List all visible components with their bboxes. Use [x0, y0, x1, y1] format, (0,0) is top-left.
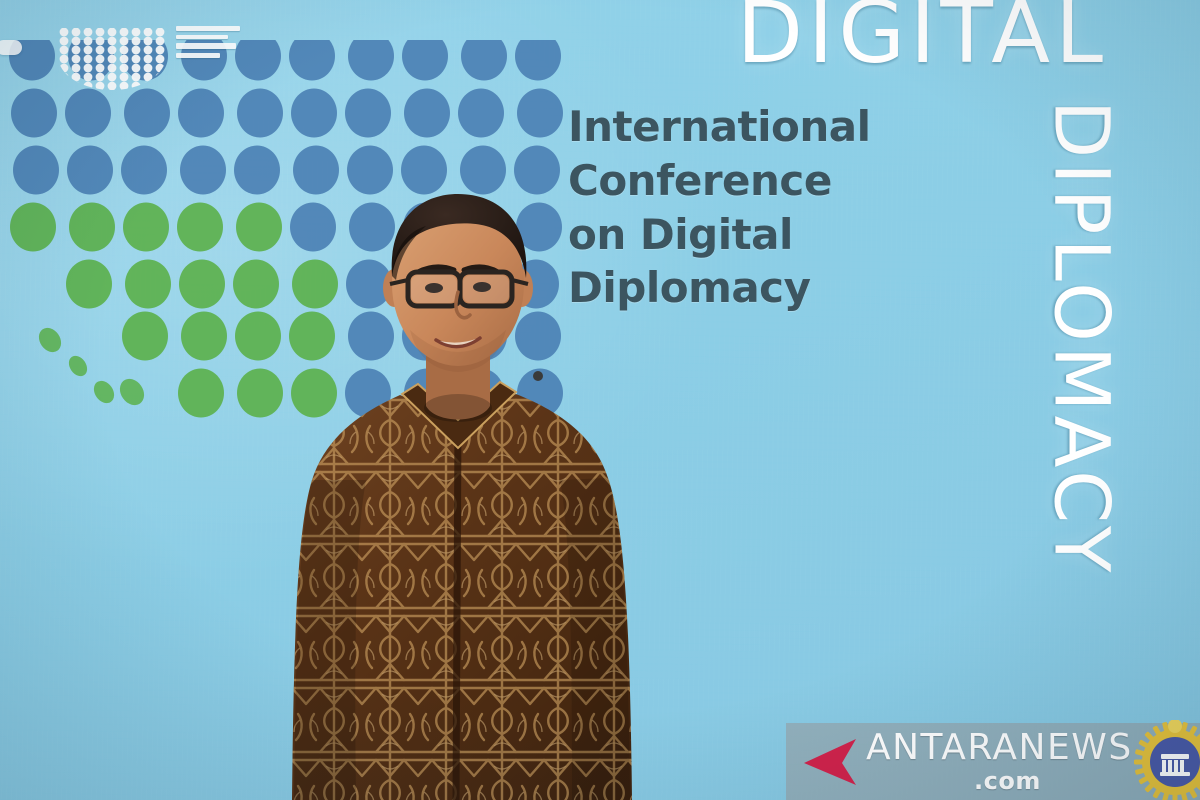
map-dot-blue: [348, 40, 394, 81]
globe-dot: [84, 64, 93, 73]
globe-dot: [72, 28, 81, 37]
globe-dot: [84, 55, 93, 64]
map-dot-green: [181, 312, 227, 361]
ministry-gear-emblem-icon: [1133, 720, 1200, 800]
map-dot-green: [125, 260, 171, 309]
globe-dot: [156, 64, 165, 73]
globe-dot: [96, 64, 105, 73]
globe-dot: [132, 82, 141, 91]
map-dot-green: [177, 203, 223, 252]
map-dot-blue: [458, 89, 504, 138]
conference-speaker: [250, 180, 670, 800]
globe-dot: [96, 37, 105, 46]
antara-arrow-icon: [798, 735, 860, 789]
antaranews-watermark: ANTARANEWS .com: [786, 723, 1200, 800]
map-dot-blue: [180, 146, 226, 195]
map-dot-green: [179, 260, 225, 309]
globe-dot: [144, 55, 153, 64]
globe-dot: [72, 55, 81, 64]
map-dot-blue: [291, 89, 337, 138]
lapel-microphone: [533, 371, 543, 381]
globe-dot: [132, 28, 141, 37]
map-dot-blue: [289, 40, 335, 81]
map-dot-green: [65, 352, 91, 379]
antaranews-domain: .com: [974, 769, 1041, 793]
map-dot-blue: [517, 89, 563, 138]
globe-dot: [108, 28, 117, 37]
globe-dot: [144, 73, 153, 82]
globe-dot: [144, 37, 153, 46]
screenshot-root: DIGITAL DIPLOMACY International Conferen…: [0, 0, 1200, 800]
headline-digital: DIGITAL: [737, 0, 1108, 76]
globe-dot: [108, 82, 117, 91]
globe-dot: [96, 55, 105, 64]
globe-dot: [96, 28, 105, 37]
globe-dot: [84, 46, 93, 55]
globe-dot: [108, 55, 117, 64]
globe-dot: [132, 64, 141, 73]
globe-dot: [120, 73, 129, 82]
globe-dot: [96, 82, 105, 91]
globe-dot: [60, 82, 69, 91]
map-dot-blue: [67, 146, 113, 195]
map-dot-green: [34, 324, 65, 357]
batik-shirt: [292, 382, 632, 800]
map-dot-green: [123, 203, 169, 252]
globe-dot: [72, 37, 81, 46]
globe-dot: [108, 64, 117, 73]
globe-dot: [156, 28, 165, 37]
map-dot-green: [66, 260, 112, 309]
globe-dot: [60, 55, 69, 64]
globe-dot: [108, 37, 117, 46]
map-dot-green: [69, 203, 115, 252]
globe-dot: [120, 46, 129, 55]
globe-dot: [84, 28, 93, 37]
logo-fragment-left-edge: [0, 40, 22, 55]
globe-dot: [60, 46, 69, 55]
map-dot-green: [178, 369, 224, 418]
globe-dot: [84, 82, 93, 91]
map-dot-blue: [402, 40, 448, 81]
shirt-placket: [456, 424, 458, 800]
globe-dot: [120, 37, 129, 46]
antaranews-text: ANTARANEWS .com: [866, 730, 1133, 793]
globe-dot: [156, 55, 165, 64]
globe-dot: [132, 46, 141, 55]
globe-dot: [84, 37, 93, 46]
title-line-1: International: [568, 100, 871, 154]
globe-dot: [144, 64, 153, 73]
globe-dot: [156, 37, 165, 46]
globe-dot: [156, 46, 165, 55]
globe-dot: [144, 82, 153, 91]
headline-diplomacy-vertical: DIPLOMACY: [1044, 100, 1120, 577]
globe-dot: [120, 28, 129, 37]
organizer-wordmark: [176, 26, 240, 62]
globe-dot: [72, 46, 81, 55]
map-dot-blue: [121, 146, 167, 195]
map-dot-blue: [345, 89, 391, 138]
globe-dot: [96, 73, 105, 82]
map-dot-green: [122, 312, 168, 361]
globe-dot: [60, 64, 69, 73]
antaranews-brand: ANTARANEWS: [866, 730, 1133, 766]
globe-dot: [60, 73, 69, 82]
globe-dot: [72, 64, 81, 73]
map-dot-blue: [237, 89, 283, 138]
map-dot-blue: [13, 146, 59, 195]
globe-dot: [120, 55, 129, 64]
dotted-globe-icon: [52, 22, 172, 94]
globe-dot: [72, 82, 81, 91]
globe-dot: [96, 46, 105, 55]
map-dot-blue: [11, 89, 57, 138]
map-dot-blue: [461, 40, 507, 81]
globe-dot: [60, 28, 69, 37]
map-dot-blue: [178, 89, 224, 138]
globe-dot: [72, 73, 81, 82]
globe-dot: [120, 64, 129, 73]
globe-dot: [144, 28, 153, 37]
globe-dot: [132, 55, 141, 64]
map-dot-green: [90, 377, 119, 407]
map-dot-blue: [404, 89, 450, 138]
map-dot-green: [115, 374, 149, 410]
globe-dot: [108, 73, 117, 82]
map-dot-blue: [235, 40, 281, 81]
globe-dot: [84, 73, 93, 82]
globe-dot: [156, 82, 165, 91]
globe-dot: [120, 82, 129, 91]
map-dot-green: [10, 203, 56, 252]
globe-dot: [132, 37, 141, 46]
map-dot-blue: [515, 40, 561, 81]
globe-dot: [108, 46, 117, 55]
organizer-logo: [52, 22, 172, 99]
globe-dot: [144, 46, 153, 55]
globe-dot: [60, 37, 69, 46]
globe-dot: [156, 73, 165, 82]
globe-dot: [132, 73, 141, 82]
